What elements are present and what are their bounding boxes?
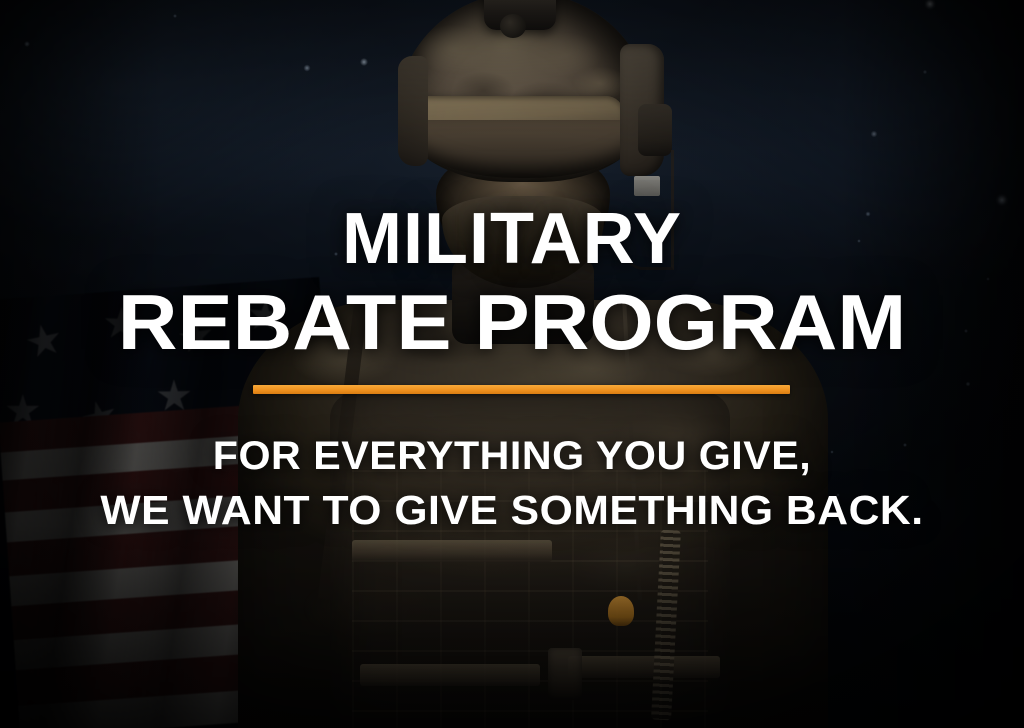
subheadline-line-1: FOR EVERYTHING YOU GIVE,: [0, 436, 1024, 476]
subheadline-line-2: WE WANT TO GIVE SOMETHING BACK.: [0, 490, 1024, 531]
banner-content: MILITARY REBATE PROGRAM FOR EVERYTHING Y…: [0, 0, 1024, 728]
headline-line-2: REBATE PROGRAM: [0, 283, 1024, 361]
orange-divider: [253, 385, 790, 394]
military-rebate-banner: MILITARY REBATE PROGRAM FOR EVERYTHING Y…: [0, 0, 1024, 728]
headline-line-1: MILITARY: [0, 203, 1024, 275]
